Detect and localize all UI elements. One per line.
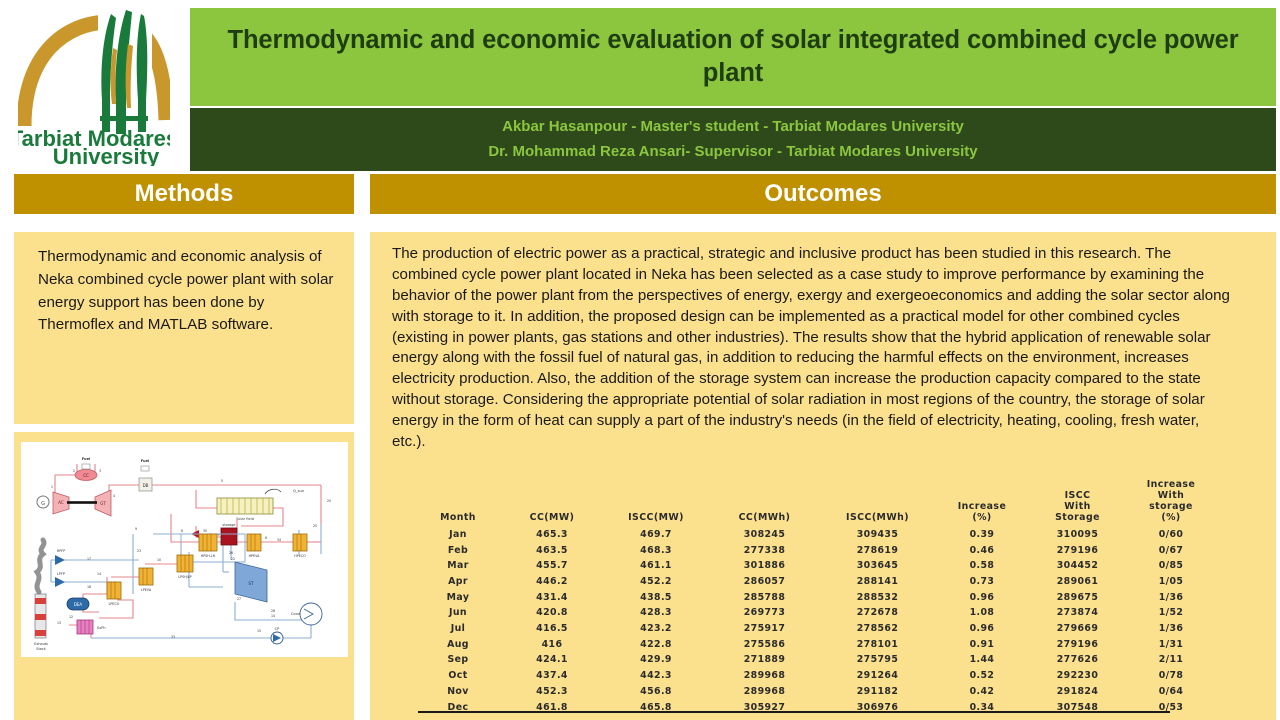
table-cell: 0.91 [934,636,1030,652]
outcomes-paragraph: The production of electric power as a pr… [392,244,1236,453]
table-row: May431.4438.52857882885320.962896751/36 [416,589,1217,605]
table-cell: 309435 [821,527,934,543]
section-header-outcomes-label: Outcomes [764,182,881,206]
svg-text:14: 14 [97,572,101,576]
svg-text:HPSH-LH: HPSH-LH [201,554,216,558]
svg-text:20: 20 [327,499,331,503]
table-cell: 468.3 [604,542,708,558]
table-cell: 269773 [708,605,821,621]
svg-text:7: 7 [233,536,235,540]
table-body: Jan465.3469.73082453094350.393100950/60F… [416,527,1217,717]
table-row: Jul416.5423.22759172785620.962796691/36 [416,621,1217,637]
table-row: Aug416422.82755862781010.912791961/31 [416,636,1217,652]
svg-text:34: 34 [277,538,281,542]
svg-text:GT: GT [100,501,106,506]
table-cell: 273874 [1030,605,1125,621]
table-row: Apr446.2452.22860572881410.732890611/05 [416,574,1217,590]
table-cell: 307548 [1030,699,1125,716]
table-cell: 437.4 [500,668,604,684]
table-cell: 0/53 [1125,699,1217,716]
table-row: Jan465.3469.73082453094350.393100950/60 [416,527,1217,543]
table-cell: 429.9 [604,652,708,668]
table-cell: 1.08 [934,605,1030,621]
table-cell: 289675 [1030,589,1125,605]
table-cell: 278619 [821,542,934,558]
table-cell: 0/60 [1125,527,1217,543]
svg-text:27: 27 [237,597,241,601]
table-cell: 0/78 [1125,668,1217,684]
table-cell: Oct [416,668,500,684]
svg-text:Cond: Cond [291,612,300,616]
table-cell: 0.73 [934,574,1030,590]
table-cell: Jun [416,605,500,621]
monthly-results-table: MonthCC(MW)ISCC(MW)CC(MWh)ISCC(MWh)Incre… [416,480,1217,717]
table-cell: 431.4 [500,589,604,605]
table-cell: 428.3 [604,605,708,621]
plant-schematic-figure: G AC GT CC Fuel DB Fuel [21,442,348,657]
table-cell: Jul [416,621,500,637]
table-cell: 286057 [708,574,821,590]
svg-text:2: 2 [73,469,75,473]
table-cell: 289968 [708,684,821,700]
table-cell: 306976 [821,699,934,716]
svg-text:30: 30 [203,529,207,533]
table-cell: 291182 [821,684,934,700]
table-bottom-rule [418,711,1170,713]
table-cell: 275917 [708,621,821,637]
table-cell: 1/52 [1125,605,1217,621]
svg-text:Exhaust: Exhaust [34,642,48,646]
table-cell: 1/36 [1125,621,1217,637]
svg-text:LPFP: LPFP [57,572,65,576]
svg-text:DB: DB [143,483,149,488]
table-cell: 1.44 [934,652,1030,668]
svg-text:26: 26 [229,551,233,555]
author-line-2: Dr. Mohammad Reza Ansari- Supervisor - T… [488,144,977,161]
svg-text:10: 10 [157,558,161,562]
table-cell: 304452 [1030,558,1125,574]
svg-text:6: 6 [265,536,267,540]
authors-bar: Akbar Hasanpour - Master's student - Tar… [190,108,1276,171]
svg-text:HPECO: HPECO [294,554,306,558]
table-cell: 461.1 [604,558,708,574]
table-column-header: Increase (%) [934,480,1030,527]
svg-text:22: 22 [231,557,235,561]
table-column-header: CC(MWh) [708,480,821,527]
poster-canvas: Tarbiat Modares University Thermodynamic… [0,0,1280,720]
table-cell: 271889 [708,652,821,668]
table-cell: 1/36 [1125,589,1217,605]
table-cell: 279196 [1030,636,1125,652]
table-cell: May [416,589,500,605]
svg-text:CC: CC [83,473,89,478]
table-column-header: CC(MW) [500,480,604,527]
table-column-header: Increase With storage (%) [1125,480,1217,527]
svg-text:LPSH/LP: LPSH/LP [178,575,191,579]
table-cell: 438.5 [604,589,708,605]
table-cell: 422.8 [604,636,708,652]
svg-text:Stack: Stack [36,647,45,651]
university-logo-panel: Tarbiat Modares University [0,0,186,172]
svg-text:LPECO: LPECO [109,602,120,606]
table-column-header: ISCC(MW) [604,480,708,527]
table-cell: Jan [416,527,500,543]
svg-text:1: 1 [51,485,53,489]
table-cell: Dec [416,699,500,716]
table-row: Mar455.7461.13018863036450.583044520/85 [416,558,1217,574]
table-cell: 277626 [1030,652,1125,668]
methods-figure-panel: G AC GT CC Fuel DB Fuel [14,432,354,720]
svg-text:23: 23 [137,549,141,553]
table-cell: 277338 [708,542,821,558]
table-cell: 463.5 [500,542,604,558]
svg-text:18: 18 [87,585,91,589]
tarbiat-modares-university-logo: Tarbiat Modares University [18,8,170,166]
table-cell: 0/85 [1125,558,1217,574]
table-cell: 278101 [821,636,934,652]
table-cell: Apr [416,574,500,590]
svg-text:ST: ST [248,581,254,586]
table-cell: 465.8 [604,699,708,716]
table-row: Oct437.4442.32899682912640.522922300/78 [416,668,1217,684]
svg-text:G: G [41,501,45,507]
table-cell: 416.5 [500,621,604,637]
table-cell: 291264 [821,668,934,684]
table-cell: 455.7 [500,558,604,574]
svg-text:storage: storage [223,523,236,527]
svg-text:8: 8 [181,529,183,533]
svg-text:CP: CP [275,627,281,631]
table-cell: Sep [416,652,500,668]
table-cell: 308245 [708,527,821,543]
section-header-methods: Methods [14,174,354,214]
table-header-row: MonthCC(MW)ISCC(MW)CC(MWh)ISCC(MWh)Incre… [416,480,1217,527]
svg-text:HPFP: HPFP [57,549,66,553]
svg-text:25: 25 [313,524,317,528]
table-column-header: ISCC With Storage [1030,480,1125,527]
table-cell: 0.58 [934,558,1030,574]
section-header-methods-label: Methods [135,182,234,206]
table-head: MonthCC(MW)ISCC(MW)CC(MWh)ISCC(MWh)Incre… [416,480,1217,527]
table-row: Sep424.1429.92718892757951.442776262/11 [416,652,1217,668]
svg-text:28: 28 [271,609,275,613]
table-cell: 423.2 [604,621,708,637]
table-cell: 288141 [821,574,934,590]
table-cell: 0.96 [934,621,1030,637]
table-cell: 279196 [1030,542,1125,558]
table-cell: 292230 [1030,668,1125,684]
methods-paragraph: Thermodynamic and economic analysis of N… [38,246,334,337]
table-cell: 0.34 [934,699,1030,716]
table-cell: 424.1 [500,652,604,668]
svg-text:15: 15 [257,629,261,633]
table-cell: 275586 [708,636,821,652]
table-cell: 442.3 [604,668,708,684]
table-cell: 301886 [708,558,821,574]
table-cell: 305927 [708,699,821,716]
author-line-1: Akbar Hasanpour - Master's student - Tar… [502,119,964,136]
table-cell: 1/31 [1125,636,1217,652]
table-cell: 446.2 [500,574,604,590]
table-cell: 465.3 [500,527,604,543]
table-cell: 289968 [708,668,821,684]
table-cell: 278562 [821,621,934,637]
table-cell: 272678 [821,605,934,621]
table-cell: 275795 [821,652,934,668]
svg-text:17: 17 [87,557,91,561]
table-cell: 285788 [708,589,821,605]
svg-text:5: 5 [221,479,223,483]
table-column-header: Month [416,480,500,527]
svg-text:33: 33 [171,635,175,639]
table-cell: 0/64 [1125,684,1217,700]
svg-text:Fuel: Fuel [82,457,91,461]
table-cell: 0/67 [1125,542,1217,558]
table-row: Feb463.5468.32773382786190.462791960/67 [416,542,1217,558]
monthly-results-table-wrap: MonthCC(MW)ISCC(MW)CC(MWh)ISCC(MWh)Incre… [416,480,1176,717]
page-title: Thermodynamic and economic evaluation of… [190,24,1276,89]
svg-text:Fuel: Fuel [141,459,150,463]
table-cell: 469.7 [604,527,708,543]
svg-text:13: 13 [57,621,61,625]
table-cell: 452.2 [604,574,708,590]
svg-text:3: 3 [99,469,101,473]
svg-text:LPEVA: LPEVA [141,588,152,592]
table-cell: Feb [416,542,500,558]
poster-title-bar: Thermodynamic and economic evaluation of… [190,8,1276,106]
table-cell: 452.3 [500,684,604,700]
table-cell: Mar [416,558,500,574]
table-cell: 279669 [1030,621,1125,637]
svg-text:4: 4 [113,494,115,498]
svg-text:Q_sun: Q_sun [293,489,304,493]
table-cell: 1/05 [1125,574,1217,590]
svg-text:9: 9 [135,527,137,531]
table-cell: 288532 [821,589,934,605]
methods-text-panel: Thermodynamic and economic analysis of N… [14,232,354,424]
svg-text:HPEVA: HPEVA [249,554,261,558]
table-row: Jun420.8428.32697732726781.082738741/52 [416,605,1217,621]
svg-text:AC: AC [58,500,64,505]
svg-text:12: 12 [69,615,73,619]
svg-text:14: 14 [271,614,275,618]
table-column-header: ISCC(MWh) [821,480,934,527]
table-cell: 0.96 [934,589,1030,605]
table-cell: 0.46 [934,542,1030,558]
table-cell: 0.39 [934,527,1030,543]
table-cell: Aug [416,636,500,652]
svg-text:SuPh: SuPh [97,626,106,630]
svg-text:Solar field: Solar field [236,517,254,521]
table-cell: 461.8 [500,699,604,716]
table-row: Dec461.8465.83059273069760.343075480/53 [416,699,1217,716]
logo-line2: University [53,144,160,166]
table-cell: 310095 [1030,527,1125,543]
table-cell: 456.8 [604,684,708,700]
table-cell: 420.8 [500,605,604,621]
table-cell: 289061 [1030,574,1125,590]
table-cell: 291824 [1030,684,1125,700]
table-cell: 303645 [821,558,934,574]
table-cell: 0.52 [934,668,1030,684]
section-header-outcomes: Outcomes [370,174,1276,214]
table-row: Nov452.3456.82899682911820.422918240/64 [416,684,1217,700]
table-cell: 0.42 [934,684,1030,700]
solar-integrated-combined-cycle-plant-schematic-icon: G AC GT CC Fuel DB Fuel [21,442,348,657]
table-cell: Nov [416,684,500,700]
table-cell: 2/11 [1125,652,1217,668]
table-cell: 416 [500,636,604,652]
svg-text:DEA: DEA [74,602,83,607]
